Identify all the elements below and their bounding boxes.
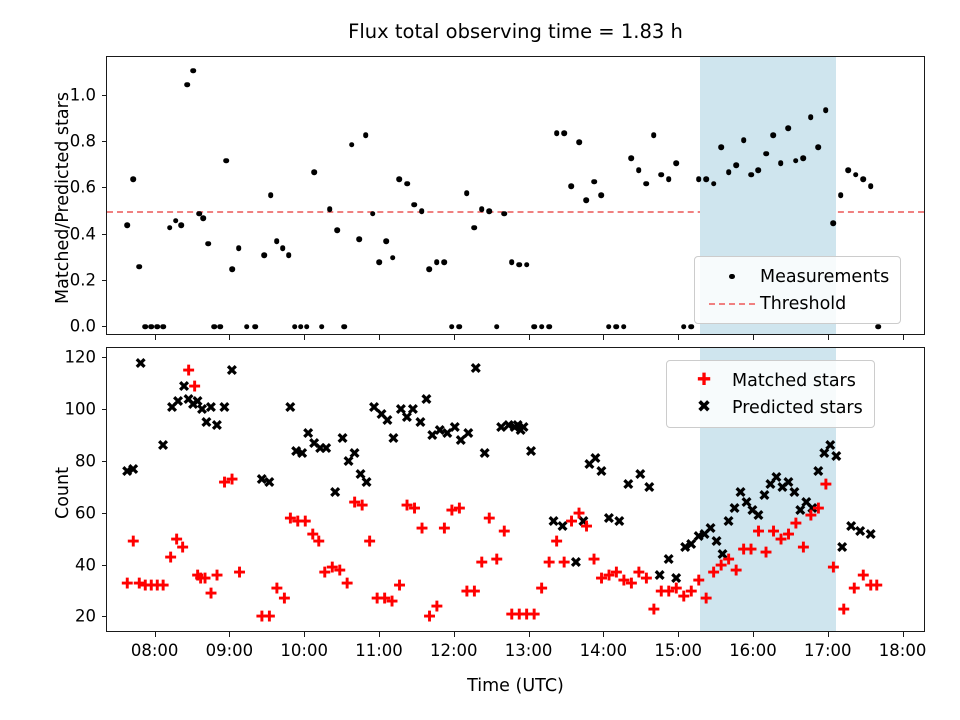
data-point-dot bbox=[390, 255, 396, 261]
data-point-plus: ✚ bbox=[371, 593, 384, 606]
data-point-dot bbox=[376, 259, 382, 265]
data-point-cross: ✖ bbox=[360, 476, 373, 489]
data-point-dot bbox=[614, 324, 620, 330]
legend-label-threshold: Threshold bbox=[760, 294, 846, 314]
data-point-cross: ✖ bbox=[670, 572, 683, 585]
data-point-dot bbox=[211, 324, 217, 330]
data-point-plus: ✚ bbox=[121, 577, 134, 590]
data-point-cross: ✖ bbox=[595, 466, 608, 479]
data-point-plus: ✚ bbox=[127, 536, 140, 549]
data-point-cross: ✖ bbox=[679, 541, 692, 554]
data-point-cross: ✖ bbox=[121, 466, 134, 479]
data-point-dot bbox=[217, 324, 223, 330]
data-point-plus: ✚ bbox=[284, 513, 297, 526]
measurements-marker-icon bbox=[704, 267, 760, 287]
data-point-dot bbox=[636, 167, 642, 173]
data-point-plus: ✚ bbox=[677, 590, 690, 603]
data-point-plus: ✚ bbox=[210, 570, 223, 583]
data-point-plus: ✚ bbox=[848, 582, 861, 595]
data-point-plus: ✚ bbox=[356, 500, 369, 513]
y-tick-mark bbox=[102, 565, 107, 566]
data-point-plus: ✚ bbox=[333, 564, 346, 577]
data-point-dot bbox=[252, 324, 258, 330]
legend-item-measurements[interactable]: Measurements bbox=[704, 263, 889, 290]
y-tick-mark bbox=[102, 234, 107, 235]
data-point-cross: ✖ bbox=[302, 427, 315, 440]
data-point-dot bbox=[688, 324, 694, 330]
data-point-plus: ✚ bbox=[415, 523, 428, 536]
data-point-plus: ✚ bbox=[662, 585, 675, 598]
data-point-dot bbox=[268, 193, 274, 199]
data-point-cross: ✖ bbox=[218, 401, 231, 414]
data-point-plus: ✚ bbox=[655, 585, 668, 598]
data-point-dot bbox=[412, 202, 418, 208]
data-point-dot bbox=[524, 262, 530, 268]
data-point-plus: ✚ bbox=[430, 601, 443, 614]
data-point-dot bbox=[434, 259, 440, 265]
data-point-cross: ✖ bbox=[414, 417, 427, 430]
data-point-cross: ✖ bbox=[187, 399, 200, 412]
data-point-plus: ✚ bbox=[188, 380, 201, 393]
data-point-cross: ✖ bbox=[166, 401, 179, 414]
data-point-plus: ✚ bbox=[625, 577, 638, 590]
data-point-cross: ✖ bbox=[448, 422, 461, 435]
data-point-cross: ✖ bbox=[469, 362, 482, 375]
data-point-plus: ✚ bbox=[151, 580, 164, 593]
data-point-plus: ✚ bbox=[182, 365, 195, 378]
data-point-dot bbox=[456, 324, 462, 330]
data-point-dot bbox=[853, 172, 859, 178]
data-point-plus: ✚ bbox=[263, 611, 276, 624]
data-point-cross: ✖ bbox=[502, 419, 515, 432]
x-tick-mark-top-panel bbox=[753, 335, 754, 340]
data-point-dot bbox=[569, 183, 575, 189]
data-point-plus: ✚ bbox=[385, 595, 398, 608]
data-point-dot bbox=[531, 324, 537, 330]
data-point-dot bbox=[643, 181, 649, 187]
data-point-cross: ✖ bbox=[420, 393, 433, 406]
data-point-plus: ✚ bbox=[423, 611, 436, 624]
data-point-dot bbox=[201, 216, 207, 222]
data-point-dot bbox=[304, 324, 310, 330]
x-tick-mark bbox=[753, 632, 754, 637]
x-tick-label: 14:00 bbox=[580, 641, 628, 660]
data-point-cross: ✖ bbox=[462, 427, 475, 440]
data-point-cross: ✖ bbox=[433, 424, 446, 437]
data-point-cross: ✖ bbox=[336, 432, 349, 445]
data-point-cross: ✖ bbox=[454, 435, 467, 448]
data-point-dot bbox=[205, 241, 211, 247]
data-point-dot bbox=[621, 324, 627, 330]
data-point-cross: ✖ bbox=[200, 417, 213, 430]
data-point-plus: ✚ bbox=[408, 502, 421, 515]
x-tick-mark bbox=[529, 632, 530, 637]
data-point-dot bbox=[167, 225, 173, 231]
data-point-dot bbox=[442, 259, 448, 265]
data-point-dot bbox=[838, 193, 844, 199]
data-point-dot bbox=[261, 253, 267, 259]
data-point-cross: ✖ bbox=[400, 411, 413, 424]
data-point-cross: ✖ bbox=[426, 430, 439, 443]
x-tick-label: 12:00 bbox=[430, 641, 478, 660]
data-point-dot bbox=[576, 140, 582, 146]
data-point-plus: ✚ bbox=[647, 603, 660, 616]
data-point-plus: ✚ bbox=[528, 608, 541, 621]
data-point-plus: ✚ bbox=[557, 557, 570, 570]
data-point-dot bbox=[449, 324, 455, 330]
data-point-dot bbox=[868, 183, 874, 189]
x-tick-mark bbox=[678, 632, 679, 637]
data-point-cross: ✖ bbox=[225, 365, 238, 378]
y-tick-mark bbox=[102, 280, 107, 281]
data-point-plus: ✚ bbox=[535, 582, 548, 595]
x-tick-mark bbox=[304, 632, 305, 637]
data-point-plus: ✚ bbox=[194, 572, 207, 585]
data-point-dot bbox=[875, 324, 881, 330]
data-point-plus: ✚ bbox=[837, 603, 850, 616]
data-point-plus: ✚ bbox=[565, 515, 578, 528]
data-point-dot bbox=[658, 172, 664, 178]
x-tick-label: 09:00 bbox=[206, 641, 254, 660]
data-point-plus: ✚ bbox=[438, 523, 451, 536]
data-point-cross: ✖ bbox=[134, 357, 147, 370]
data-point-dot bbox=[274, 239, 280, 245]
data-point-dot bbox=[363, 133, 369, 139]
x-tick-mark-top-panel bbox=[304, 335, 305, 340]
x-tick-mark bbox=[379, 632, 380, 637]
data-point-plus: ✚ bbox=[400, 500, 413, 513]
x-tick-label: 18:00 bbox=[879, 641, 927, 660]
data-point-plus: ✚ bbox=[445, 505, 458, 518]
top-panel-legend: Measurements Threshold bbox=[694, 256, 901, 324]
data-point-dot bbox=[516, 262, 522, 268]
data-point-dot bbox=[584, 197, 590, 203]
plus-marker-icon: ✚ bbox=[676, 371, 732, 391]
data-point-plus: ✚ bbox=[460, 585, 473, 598]
data-point-plus: ✚ bbox=[225, 474, 238, 487]
data-point-cross: ✖ bbox=[210, 419, 223, 432]
data-point-cross: ✖ bbox=[394, 404, 407, 417]
y-tick-mark bbox=[102, 187, 107, 188]
data-point-plus: ✚ bbox=[278, 593, 291, 606]
data-point-plus: ✚ bbox=[341, 577, 354, 590]
data-point-plus: ✚ bbox=[595, 572, 608, 585]
data-point-cross: ✖ bbox=[685, 538, 698, 551]
data-point-dot bbox=[673, 160, 679, 166]
data-point-cross: ✖ bbox=[255, 474, 268, 487]
data-point-plus: ✚ bbox=[685, 585, 698, 598]
y-tick-mark bbox=[102, 409, 107, 410]
data-point-cross: ✖ bbox=[296, 448, 309, 461]
data-point-dot bbox=[341, 324, 347, 330]
data-point-plus: ✚ bbox=[587, 554, 600, 567]
data-point-cross: ✖ bbox=[178, 380, 191, 393]
data-point-cross: ✖ bbox=[406, 404, 419, 417]
y-tick-label: 100 bbox=[10, 400, 96, 419]
x-tick-mark-top-panel bbox=[603, 335, 604, 340]
data-point-plus: ✚ bbox=[610, 567, 623, 580]
data-point-dot bbox=[681, 324, 687, 330]
data-point-cross: ✖ bbox=[517, 422, 530, 435]
legend-item-predicted-stars[interactable]: ✖ Predicted stars bbox=[676, 394, 863, 421]
y-tick-label: 120 bbox=[10, 348, 96, 367]
data-point-dot bbox=[173, 218, 179, 224]
data-point-cross: ✖ bbox=[284, 401, 297, 414]
data-point-dot bbox=[427, 266, 433, 272]
y-tick-mark bbox=[102, 357, 107, 358]
data-point-cross: ✖ bbox=[634, 468, 647, 481]
data-point-dot bbox=[860, 176, 866, 182]
data-point-plus: ✚ bbox=[204, 588, 217, 601]
data-point-plus: ✚ bbox=[291, 515, 304, 528]
data-point-plus: ✚ bbox=[490, 554, 503, 567]
data-point-cross: ✖ bbox=[387, 432, 400, 445]
data-point-plus: ✚ bbox=[176, 541, 189, 554]
data-point-cross: ✖ bbox=[263, 476, 276, 489]
x-tick-label: 10:00 bbox=[280, 641, 328, 660]
data-point-dot bbox=[561, 130, 567, 136]
data-point-cross: ✖ bbox=[290, 445, 303, 458]
data-point-dot bbox=[554, 130, 560, 136]
data-point-dot bbox=[286, 253, 292, 259]
data-point-cross: ✖ bbox=[127, 463, 140, 476]
data-point-dot bbox=[591, 179, 597, 185]
data-point-dot bbox=[130, 176, 136, 182]
x-tick-mark-top-panel bbox=[828, 335, 829, 340]
data-point-cross: ✖ bbox=[348, 448, 361, 461]
data-point-dot bbox=[142, 324, 148, 330]
data-point-cross: ✖ bbox=[182, 393, 195, 406]
data-point-plus: ✚ bbox=[513, 608, 526, 621]
data-point-dot bbox=[280, 246, 286, 252]
data-point-dot bbox=[629, 156, 635, 162]
y-tick-mark bbox=[102, 326, 107, 327]
legend-label-matched-stars: Matched stars bbox=[732, 371, 856, 391]
data-point-cross: ✖ bbox=[495, 422, 508, 435]
top-panel-y-axis-label: Matched/Predicted stars bbox=[53, 58, 73, 338]
data-point-plus: ✚ bbox=[453, 502, 466, 515]
y-tick-mark bbox=[102, 95, 107, 96]
data-point-dot bbox=[184, 82, 190, 88]
y-tick-mark bbox=[102, 141, 107, 142]
data-point-dot bbox=[606, 324, 612, 330]
data-point-cross: ✖ bbox=[308, 437, 321, 450]
data-point-plus: ✚ bbox=[170, 533, 183, 546]
data-point-cross: ✖ bbox=[381, 414, 394, 427]
x-tick-label: 13:00 bbox=[505, 641, 553, 660]
data-point-dot bbox=[154, 324, 160, 330]
threshold-line-icon bbox=[704, 294, 760, 314]
data-point-cross: ✖ bbox=[342, 456, 355, 469]
data-point-cross: ✖ bbox=[511, 419, 524, 432]
data-point-plus: ✚ bbox=[299, 515, 312, 528]
data-point-dot bbox=[178, 223, 184, 229]
data-point-plus: ✚ bbox=[857, 570, 870, 583]
data-point-cross: ✖ bbox=[514, 424, 527, 437]
data-point-cross: ✖ bbox=[441, 427, 454, 440]
x-tick-mark-top-panel bbox=[903, 335, 904, 340]
x-tick-mark-top-panel bbox=[678, 335, 679, 340]
data-point-dot bbox=[223, 158, 229, 164]
data-point-dot bbox=[539, 324, 545, 330]
data-point-dot bbox=[319, 324, 325, 330]
data-point-plus: ✚ bbox=[133, 577, 146, 590]
data-point-plus: ✚ bbox=[318, 567, 331, 580]
data-point-cross: ✖ bbox=[602, 513, 615, 526]
data-point-cross: ✖ bbox=[354, 468, 367, 481]
data-point-plus: ✚ bbox=[326, 562, 339, 575]
data-point-plus: ✚ bbox=[870, 580, 883, 593]
data-point-plus: ✚ bbox=[550, 536, 563, 549]
data-point-cross: ✖ bbox=[191, 396, 204, 409]
data-point-cross: ✖ bbox=[314, 443, 327, 456]
data-point-cross: ✖ bbox=[320, 443, 333, 456]
x-tick-mark bbox=[454, 632, 455, 637]
data-point-plus: ✚ bbox=[498, 525, 511, 538]
cross-marker-icon: ✖ bbox=[676, 398, 732, 418]
data-point-plus: ✚ bbox=[270, 582, 283, 595]
data-point-dot bbox=[845, 167, 851, 173]
data-point-plus: ✚ bbox=[157, 580, 170, 593]
data-point-cross: ✖ bbox=[204, 401, 217, 414]
data-point-cross: ✖ bbox=[556, 520, 569, 533]
data-point-dot bbox=[292, 324, 298, 330]
data-point-dot bbox=[190, 68, 196, 74]
data-point-plus: ✚ bbox=[145, 580, 158, 593]
data-point-plus: ✚ bbox=[255, 611, 268, 624]
x-tick-label: 15:00 bbox=[654, 641, 702, 660]
bottom-panel-legend: ✚ Matched stars ✖ Predicted stars bbox=[666, 360, 875, 428]
y-tick-label: 20 bbox=[10, 607, 96, 626]
data-point-dot bbox=[244, 324, 250, 330]
data-point-dot bbox=[148, 324, 154, 330]
data-point-plus: ✚ bbox=[483, 513, 496, 526]
data-point-plus: ✚ bbox=[233, 567, 246, 580]
legend-item-threshold[interactable]: Threshold bbox=[704, 290, 889, 317]
data-point-dot bbox=[546, 324, 552, 330]
bottom-panel-y-axis-label: Count bbox=[53, 433, 73, 553]
data-point-plus: ✚ bbox=[164, 551, 177, 564]
data-point-cross: ✖ bbox=[569, 557, 582, 570]
y-tick-label: 40 bbox=[10, 555, 96, 574]
legend-label-measurements: Measurements bbox=[760, 267, 889, 287]
y-tick-mark bbox=[102, 513, 107, 514]
data-point-plus: ✚ bbox=[198, 572, 211, 585]
data-point-plus: ✚ bbox=[312, 536, 325, 549]
figure-title: Flux total observing time = 1.83 h bbox=[106, 20, 925, 43]
data-point-dot bbox=[471, 225, 477, 231]
data-point-dot bbox=[335, 227, 341, 233]
data-point-cross: ✖ bbox=[653, 570, 666, 583]
data-point-cross: ✖ bbox=[329, 487, 342, 500]
x-axis-label: Time (UTC) bbox=[106, 676, 925, 696]
x-tick-label: 16:00 bbox=[729, 641, 777, 660]
data-point-dot bbox=[356, 236, 362, 242]
x-tick-label: 08:00 bbox=[131, 641, 179, 660]
data-point-cross: ✖ bbox=[478, 448, 491, 461]
x-tick-mark bbox=[155, 632, 156, 637]
data-point-plus: ✚ bbox=[348, 497, 361, 510]
data-point-plus: ✚ bbox=[306, 528, 319, 541]
x-tick-mark-top-panel bbox=[379, 335, 380, 340]
x-tick-mark-top-panel bbox=[529, 335, 530, 340]
data-point-cross: ✖ bbox=[508, 422, 521, 435]
data-point-plus: ✚ bbox=[139, 580, 152, 593]
x-tick-mark-top-panel bbox=[454, 335, 455, 340]
data-point-dot bbox=[404, 181, 410, 187]
data-point-plus: ✚ bbox=[632, 567, 645, 580]
data-point-dot bbox=[229, 266, 235, 272]
data-point-dot bbox=[311, 169, 317, 175]
data-point-plus: ✚ bbox=[580, 520, 593, 533]
data-point-dot bbox=[124, 223, 130, 229]
x-tick-mark-top-panel bbox=[229, 335, 230, 340]
data-point-dot bbox=[464, 190, 470, 196]
data-point-cross: ✖ bbox=[157, 440, 170, 453]
data-point-dot bbox=[509, 259, 515, 265]
data-point-cross: ✖ bbox=[836, 541, 849, 554]
data-point-cross: ✖ bbox=[525, 445, 538, 458]
data-point-plus: ✚ bbox=[640, 572, 653, 585]
data-point-cross: ✖ bbox=[845, 520, 858, 533]
data-point-cross: ✖ bbox=[662, 554, 675, 567]
x-tick-mark bbox=[903, 632, 904, 637]
data-point-plus: ✚ bbox=[475, 557, 488, 570]
data-point-plus: ✚ bbox=[572, 507, 585, 520]
x-tick-mark bbox=[229, 632, 230, 637]
legend-item-matched-stars[interactable]: ✚ Matched stars bbox=[676, 367, 863, 394]
data-point-dot bbox=[236, 246, 242, 252]
data-point-cross: ✖ bbox=[547, 515, 560, 528]
figure-canvas: Flux total observing time = 1.83 h 0.00.… bbox=[0, 0, 960, 720]
data-point-plus: ✚ bbox=[617, 575, 630, 588]
data-point-dot bbox=[397, 176, 403, 182]
data-point-plus: ✚ bbox=[363, 536, 376, 549]
data-point-plus: ✚ bbox=[543, 557, 556, 570]
data-point-dot bbox=[651, 133, 657, 139]
data-point-dot bbox=[666, 176, 672, 182]
data-point-dot bbox=[383, 239, 389, 245]
data-point-dot bbox=[136, 264, 142, 270]
data-point-dot bbox=[494, 324, 500, 330]
data-point-plus: ✚ bbox=[378, 593, 391, 606]
data-point-plus: ✚ bbox=[191, 570, 204, 583]
data-point-plus: ✚ bbox=[864, 580, 877, 593]
data-point-dot bbox=[349, 142, 355, 148]
data-point-cross: ✖ bbox=[613, 515, 626, 528]
data-point-plus: ✚ bbox=[505, 608, 518, 621]
data-point-plus: ✚ bbox=[670, 582, 683, 595]
data-point-cross: ✖ bbox=[577, 515, 590, 528]
data-point-cross: ✖ bbox=[172, 396, 185, 409]
data-point-plus: ✚ bbox=[468, 585, 481, 598]
y-tick-mark bbox=[102, 616, 107, 617]
data-point-cross: ✖ bbox=[195, 404, 208, 417]
data-point-cross: ✖ bbox=[622, 479, 635, 492]
data-point-plus: ✚ bbox=[218, 476, 231, 489]
x-tick-mark bbox=[828, 632, 829, 637]
data-point-dot bbox=[599, 193, 605, 199]
data-point-plus: ✚ bbox=[393, 580, 406, 593]
data-point-dot bbox=[160, 324, 166, 330]
data-point-cross: ✖ bbox=[643, 481, 656, 494]
data-point-cross: ✖ bbox=[368, 401, 381, 414]
data-point-cross: ✖ bbox=[854, 525, 867, 538]
legend-label-predicted-stars: Predicted stars bbox=[732, 398, 863, 418]
x-tick-label: 11:00 bbox=[355, 641, 403, 660]
x-tick-mark-top-panel bbox=[155, 335, 156, 340]
y-tick-mark bbox=[102, 461, 107, 462]
